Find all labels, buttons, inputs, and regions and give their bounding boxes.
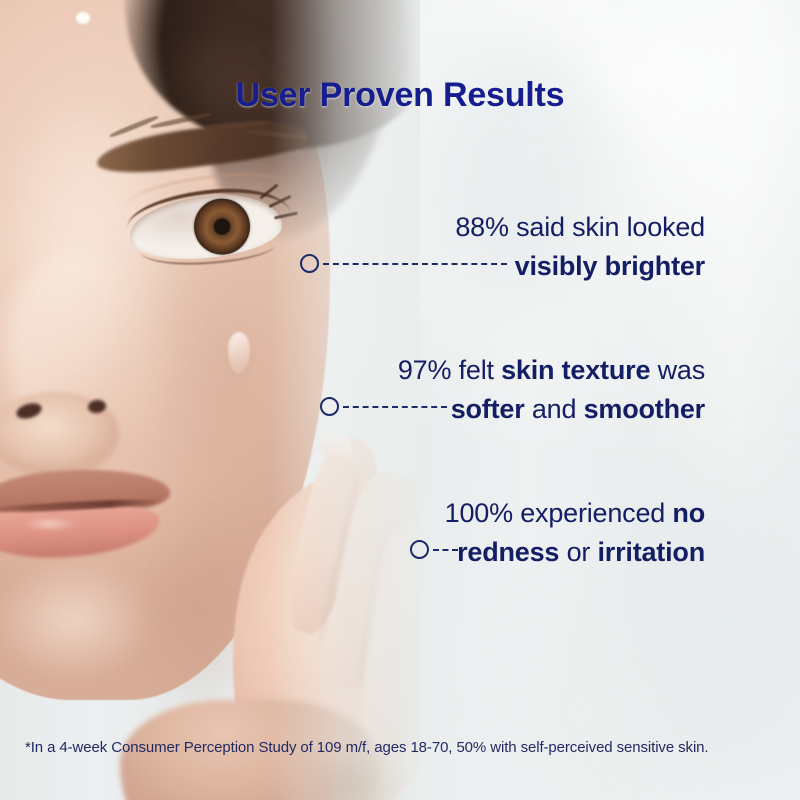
claim-text-prefix: 100% experienced [445,498,673,528]
claim-text-suffix: was [650,355,705,385]
claim-text-bold-a: redness [457,537,559,567]
claim-text-bold-b: smoother [584,394,705,424]
leader-dash-line [343,406,447,408]
marketing-graphic: User Proven Results 88% said skin looked… [0,0,800,800]
claim-brighter: 88% said skin looked visibly brighter [455,208,705,286]
claim-text-bold: skin texture [501,355,650,385]
claim-redness: 100% experienced no redness or irritatio… [445,494,705,572]
marker-ring-icon [300,254,319,273]
claim-line-1: 100% experienced no [445,494,705,533]
leader-dash-line [433,549,458,551]
marker-ring-icon [320,397,339,416]
lip-highlight [10,516,90,532]
claim-text-bold: no [672,498,705,528]
claim-texture: 97% felt skin texture was softer and smo… [398,351,705,429]
marker-ring-icon [410,540,429,559]
claim-line-2: redness or irritation [445,533,705,572]
claim-text-prefix: 97% felt [398,355,501,385]
claim-text-bold-b: irritation [597,537,705,567]
leader-dash-line [323,263,507,265]
leader-dot-2 [320,397,448,416]
leader-dot-1 [300,254,510,273]
leader-dot-3 [410,540,458,559]
eye-catchlight [76,12,90,24]
claim-text-mid: or [559,537,597,567]
claim-text-mid: and [525,394,584,424]
study-footnote: *In a 4-week Consumer Perception Study o… [25,739,709,756]
claim-text-bold-a: softer [451,394,525,424]
claim-line-1: 97% felt skin texture was [398,351,705,390]
claim-line-1: 88% said skin looked [455,208,705,247]
page-title: User Proven Results [0,76,800,115]
